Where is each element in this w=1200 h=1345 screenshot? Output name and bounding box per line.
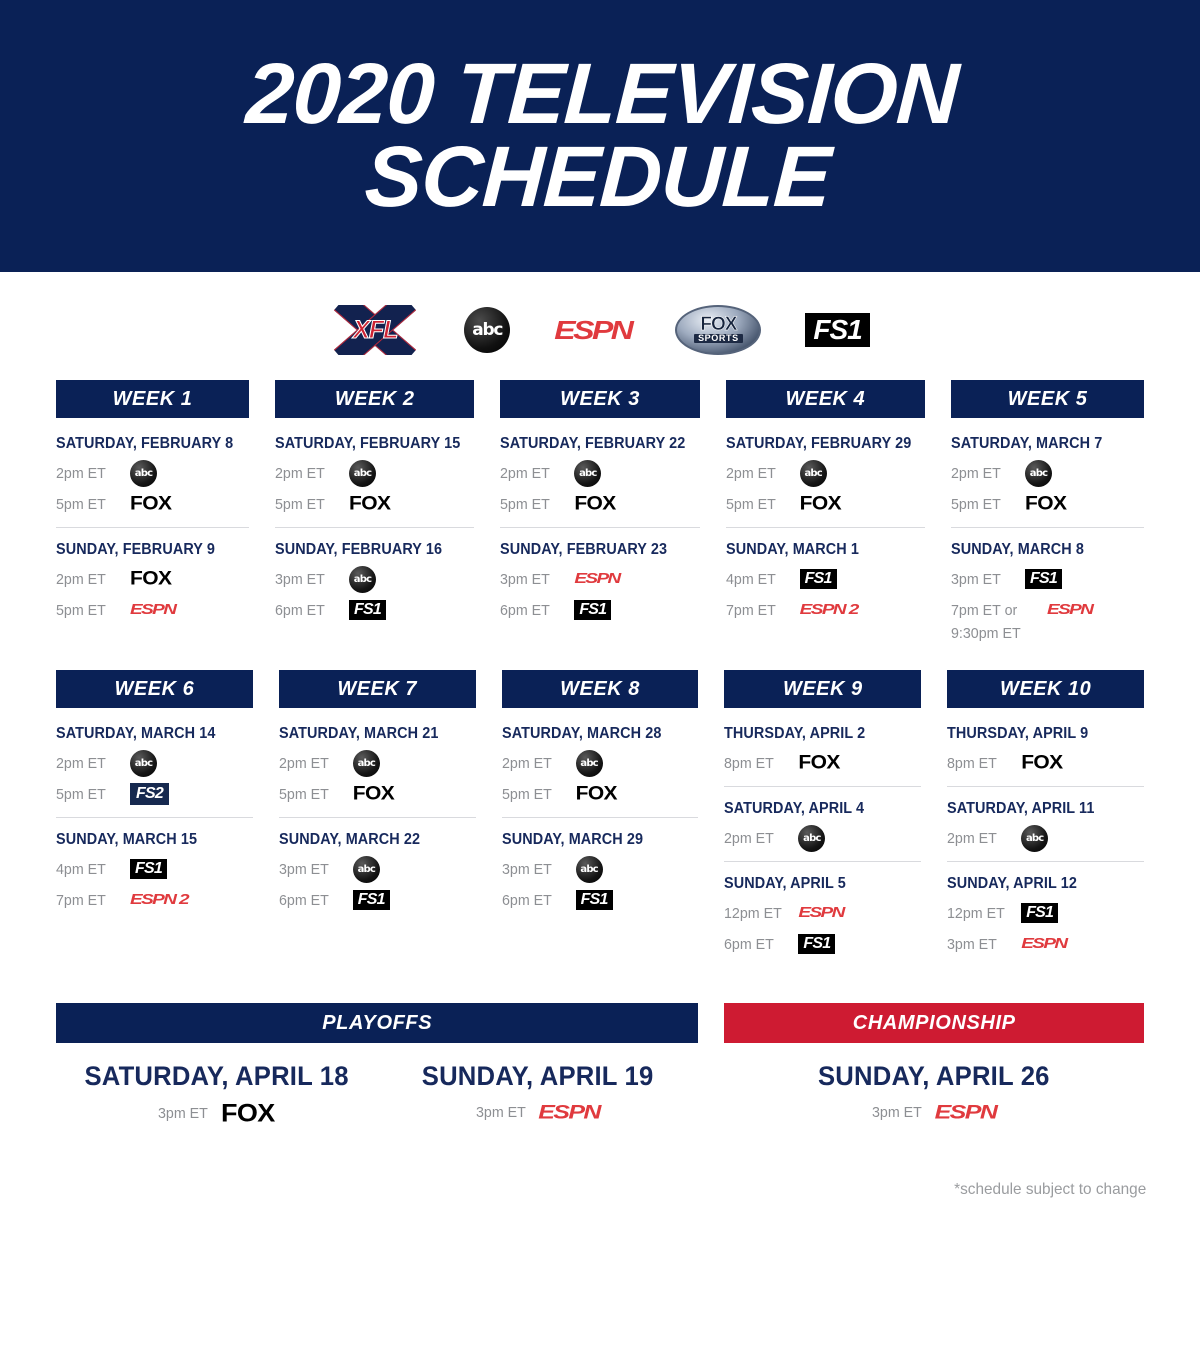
abc-icon-label: abc bbox=[358, 758, 375, 769]
broadcast-slot: 4pm ETFS1 bbox=[726, 565, 925, 593]
championship-header: CHAMPIONSHIP bbox=[724, 1003, 1144, 1043]
day-group: SUNDAY, MARCH 293pm ETabc6pm ETFS1 bbox=[502, 817, 699, 923]
slot-network: abc bbox=[353, 856, 380, 883]
abc-icon-label: abc bbox=[135, 758, 152, 769]
abc-icon-label: abc bbox=[354, 468, 371, 479]
abc-icon: abc bbox=[800, 460, 827, 487]
slot-time: 12pm ET bbox=[947, 905, 1017, 922]
abc-icon: abc bbox=[130, 460, 157, 487]
abc-icon-label: abc bbox=[803, 833, 820, 844]
page-header: 2020 TELEVISION SCHEDULE bbox=[0, 0, 1200, 272]
playoffs-header: PLAYOFFS bbox=[56, 1003, 698, 1043]
slot-time: 3pm ET bbox=[502, 861, 572, 878]
slot-time: 2pm ET bbox=[502, 755, 572, 772]
broadcast-slot: 3pm ETabc bbox=[279, 855, 476, 883]
week-title: WEEK 4 bbox=[786, 388, 866, 411]
slot-time: 5pm ET bbox=[56, 496, 126, 513]
postseason-game: SUNDAY, APRIL 193pm ETESPN bbox=[377, 1061, 698, 1129]
slot-time: 5pm ET bbox=[502, 786, 572, 803]
broadcast-slot: 5pm ETFOX bbox=[275, 490, 474, 518]
day-date-label: SUNDAY, APRIL 5 bbox=[724, 875, 907, 893]
abc-icon-label: abc bbox=[580, 864, 597, 875]
day-group: SUNDAY, MARCH 223pm ETabc6pm ETFS1 bbox=[279, 817, 476, 923]
xfl-logo-icon: XFL bbox=[330, 305, 420, 355]
weeks-row-first-half: WEEK 1SATURDAY, FEBRUARY 82pm ETabc5pm E… bbox=[56, 380, 1144, 648]
fox-icon: FOX bbox=[798, 752, 839, 775]
week-body: SATURDAY, MARCH 212pm ETabc5pm ETFOXSUND… bbox=[279, 708, 476, 923]
abc-icon-label: abc bbox=[135, 468, 152, 479]
slot-network: FS1 bbox=[576, 890, 613, 910]
slot-time: 3pm ET bbox=[476, 1104, 526, 1121]
broadcast-slot: 3pm ETabc bbox=[502, 855, 699, 883]
slot-time: 6pm ET bbox=[275, 602, 345, 619]
day-group: SATURDAY, FEBRUARY 152pm ETabc5pm ETFOX bbox=[275, 422, 474, 527]
day-date-label: SUNDAY, MARCH 1 bbox=[726, 541, 911, 559]
fs1-icon: FS1 bbox=[574, 600, 611, 620]
abc-icon: abc bbox=[353, 750, 380, 777]
day-date-label: SUNDAY, FEBRUARY 23 bbox=[500, 541, 685, 559]
slot-time: 5pm ET bbox=[275, 496, 345, 513]
abc-icon: abc bbox=[130, 750, 157, 777]
week-header: WEEK 8 bbox=[502, 670, 699, 708]
day-date-label: SATURDAY, MARCH 21 bbox=[279, 725, 462, 743]
slot-network: FS1 bbox=[1021, 903, 1058, 923]
slot-network: FS1 bbox=[130, 859, 167, 879]
fs1-icon: FS1 bbox=[130, 859, 167, 879]
abc-icon: abc bbox=[1021, 825, 1048, 852]
slot-time: 3pm ET bbox=[500, 571, 570, 588]
slot-time: 6pm ET bbox=[724, 936, 794, 953]
week-card: WEEK 10THURSDAY, APRIL 98pm ETFOXSATURDA… bbox=[947, 670, 1144, 967]
day-date-label: SUNDAY, APRIL 12 bbox=[947, 875, 1130, 893]
slot-time: 3pm ET bbox=[158, 1105, 208, 1122]
week-header: WEEK 2 bbox=[275, 380, 474, 418]
day-date-label: SATURDAY, APRIL 4 bbox=[724, 800, 907, 818]
slot-network: FS1 bbox=[574, 600, 611, 620]
week-card: WEEK 4SATURDAY, FEBRUARY 292pm ETabc5pm … bbox=[726, 380, 925, 648]
slot-network: ESPN 2 bbox=[130, 889, 188, 911]
slot-network: FOX bbox=[574, 492, 615, 516]
fs1-icon: FS1 bbox=[576, 890, 613, 910]
abc-icon: abc bbox=[1025, 460, 1052, 487]
week-card: WEEK 2SATURDAY, FEBRUARY 152pm ETabc5pm … bbox=[275, 380, 474, 648]
postseason-game: SUNDAY, APRIL 263pm ETESPN bbox=[724, 1061, 1144, 1127]
week-header: WEEK 10 bbox=[947, 670, 1144, 708]
postseason-date-label: SUNDAY, APRIL 19 bbox=[385, 1061, 690, 1092]
broadcast-slot: 2pm ETFOX bbox=[56, 565, 249, 593]
fox-icon: FOX bbox=[800, 493, 841, 516]
slot-time: 12pm ET bbox=[724, 905, 794, 922]
day-date-label: THURSDAY, APRIL 2 bbox=[724, 725, 907, 743]
slot-time: 8pm ET bbox=[947, 755, 1017, 772]
fox-sports-logo-icon: FOX SPORTS bbox=[675, 305, 761, 355]
slot-time: 5pm ET bbox=[56, 786, 126, 803]
broadcast-slot: 2pm ETabc bbox=[56, 459, 249, 487]
day-group: SUNDAY, APRIL 1212pm ETFS13pm ETESPN bbox=[947, 861, 1144, 967]
slot-time: 2pm ET bbox=[56, 465, 126, 482]
slot-time: 5pm ET bbox=[726, 496, 796, 513]
slot-time: 2pm ET bbox=[279, 755, 349, 772]
broadcast-slot: 7pm ETESPN 2 bbox=[726, 596, 925, 624]
espn-logo-icon: ESPN bbox=[554, 315, 631, 345]
week-body: SATURDAY, MARCH 72pm ETabc5pm ETFOXSUNDA… bbox=[951, 418, 1144, 648]
abc-logo-label: abc bbox=[472, 320, 502, 340]
abc-icon: abc bbox=[798, 825, 825, 852]
broadcast-slot: 7pm ET orESPN bbox=[951, 596, 1144, 624]
day-group: SUNDAY, FEBRUARY 163pm ETabc6pm ETFS1 bbox=[275, 527, 474, 633]
fox-icon: FOX bbox=[353, 783, 394, 806]
slot-time: 5pm ET bbox=[500, 496, 570, 513]
slot-network: FOX bbox=[576, 782, 617, 806]
page-title-line2: SCHEDULE bbox=[240, 136, 956, 219]
broadcast-slot: 4pm ETFS1 bbox=[56, 855, 253, 883]
broadcast-slot: 6pm ETFS1 bbox=[275, 596, 474, 624]
slot-network: ESPN bbox=[1047, 599, 1092, 621]
broadcast-slot: 8pm ETFOX bbox=[724, 749, 921, 777]
slot-network: abc bbox=[1021, 825, 1048, 852]
week-title: WEEK 10 bbox=[1000, 678, 1091, 701]
week-card: WEEK 7SATURDAY, MARCH 212pm ETabc5pm ETF… bbox=[279, 670, 476, 967]
day-group: SUNDAY, MARCH 14pm ETFS17pm ETESPN 2 bbox=[726, 527, 925, 633]
abc-icon-label: abc bbox=[804, 468, 821, 479]
fox-icon: FOX bbox=[576, 783, 617, 806]
broadcast-slot: 6pm ETFS1 bbox=[724, 930, 921, 958]
espn-icon: ESPN bbox=[1047, 601, 1092, 618]
slot-network: FS1 bbox=[353, 890, 390, 910]
day-group: SATURDAY, APRIL 42pm ETabc bbox=[724, 786, 921, 861]
day-date-label: THURSDAY, APRIL 9 bbox=[947, 725, 1130, 743]
week-body: SATURDAY, MARCH 142pm ETabc5pm ETFS2SUND… bbox=[56, 708, 253, 923]
week-body: SATURDAY, FEBRUARY 152pm ETabc5pm ETFOXS… bbox=[275, 418, 474, 633]
week-header: WEEK 1 bbox=[56, 380, 249, 418]
broadcast-slot: 5pm ETFOX bbox=[500, 490, 699, 518]
slot-network: abc bbox=[349, 460, 376, 487]
day-group: THURSDAY, APRIL 98pm ETFOX bbox=[947, 712, 1144, 786]
slot-network: abc bbox=[130, 750, 157, 777]
week-title: WEEK 5 bbox=[1008, 388, 1088, 411]
day-date-label: SUNDAY, MARCH 8 bbox=[951, 541, 1130, 559]
fox-icon: FOX bbox=[1025, 493, 1066, 516]
week-card: WEEK 3SATURDAY, FEBRUARY 222pm ETabc5pm … bbox=[500, 380, 699, 648]
slot-network: FOX bbox=[349, 492, 390, 516]
page-title: 2020 TELEVISION SCHEDULE bbox=[240, 53, 960, 220]
slot-network: FS1 bbox=[1025, 569, 1062, 589]
slot-time: 6pm ET bbox=[279, 892, 349, 909]
postseason-date-label: SUNDAY, APRIL 26 bbox=[735, 1061, 1134, 1092]
fox-sports-logo-sublabel: SPORTS bbox=[694, 334, 743, 343]
slot-network: abc bbox=[349, 566, 376, 593]
day-date-label: SUNDAY, MARCH 29 bbox=[502, 831, 685, 849]
weeks-row-second-half: WEEK 6SATURDAY, MARCH 142pm ETabc5pm ETF… bbox=[56, 670, 1144, 967]
slot-time: 3pm ET bbox=[951, 571, 1021, 588]
abc-icon-label: abc bbox=[354, 574, 371, 585]
broadcast-slot: 2pm ETabc bbox=[275, 459, 474, 487]
week-card: WEEK 6SATURDAY, MARCH 142pm ETabc5pm ETF… bbox=[56, 670, 253, 967]
broadcast-slot: 3pm ETESPN bbox=[500, 565, 699, 593]
slot-network: FS1 bbox=[798, 934, 835, 954]
slot-network: FS2 bbox=[130, 783, 169, 805]
slot-network: FOX bbox=[798, 751, 839, 775]
postseason-row: PLAYOFFS CHAMPIONSHIP SATURDAY, APRIL 18… bbox=[56, 1003, 1144, 1129]
week-title: WEEK 2 bbox=[335, 388, 415, 411]
broadcast-slot: 2pm ETabc bbox=[947, 824, 1144, 852]
abc-icon: abc bbox=[576, 750, 603, 777]
day-group: SUNDAY, FEBRUARY 92pm ETFOX5pm ETESPN bbox=[56, 527, 249, 633]
week-header: WEEK 3 bbox=[500, 380, 699, 418]
schedule-sheet: WEEK 1SATURDAY, FEBRUARY 82pm ETabc5pm E… bbox=[0, 380, 1200, 1129]
broadcast-slot: 6pm ETFS1 bbox=[502, 886, 699, 914]
postseason-date-label: SATURDAY, APRIL 18 bbox=[64, 1061, 369, 1092]
slot-network: ESPN bbox=[574, 568, 619, 590]
broadcast-slot: 8pm ETFOX bbox=[947, 749, 1144, 777]
day-group: SATURDAY, FEBRUARY 222pm ETabc5pm ETFOX bbox=[500, 422, 699, 527]
abc-icon-label: abc bbox=[358, 864, 375, 875]
abc-icon: abc bbox=[353, 856, 380, 883]
espn-icon: ESPN bbox=[538, 1101, 600, 1124]
slot-network: abc bbox=[798, 825, 825, 852]
slot-network: ESPN bbox=[130, 599, 175, 621]
slot-time: 2pm ET bbox=[56, 571, 126, 588]
broadcast-slot: 3pm ETabc bbox=[275, 565, 474, 593]
espn2-icon: ESPN 2 bbox=[800, 601, 858, 618]
fox-icon: FOX bbox=[130, 568, 171, 591]
fox-icon: FOX bbox=[1021, 752, 1062, 775]
day-group: SUNDAY, APRIL 512pm ETESPN6pm ETFS1 bbox=[724, 861, 921, 967]
slot-time: 3pm ET bbox=[947, 936, 1017, 953]
broadcast-slot: 2pm ETabc bbox=[724, 824, 921, 852]
broadcast-slot: 5pm ETESPN bbox=[56, 596, 249, 624]
slot-time: 5pm ET bbox=[951, 496, 1021, 513]
slot-network: ESPN bbox=[1021, 933, 1066, 955]
slot-network: FOX bbox=[1021, 751, 1062, 775]
espn2-icon: ESPN 2 bbox=[130, 891, 188, 908]
abc-logo-icon: abc bbox=[464, 307, 510, 353]
week-body: THURSDAY, APRIL 28pm ETFOXSATURDAY, APRI… bbox=[724, 708, 921, 967]
fs1-icon: FS1 bbox=[1025, 569, 1062, 589]
day-group: SATURDAY, APRIL 112pm ETabc bbox=[947, 786, 1144, 861]
week-card: WEEK 8SATURDAY, MARCH 282pm ETabc5pm ETF… bbox=[502, 670, 699, 967]
week-body: THURSDAY, APRIL 98pm ETFOXSATURDAY, APRI… bbox=[947, 708, 1144, 967]
fox-icon: FOX bbox=[349, 493, 390, 516]
slot-network: FOX bbox=[353, 782, 394, 806]
playoffs-title: PLAYOFFS bbox=[322, 1012, 432, 1035]
abc-icon: abc bbox=[574, 460, 601, 487]
week-card: WEEK 9THURSDAY, APRIL 28pm ETFOXSATURDAY… bbox=[724, 670, 921, 967]
fox-sports-logo-label: FOX bbox=[700, 317, 736, 333]
slot-time: 7pm ET bbox=[726, 602, 796, 619]
fs1-icon: FS1 bbox=[349, 600, 386, 620]
slot-network: abc bbox=[130, 460, 157, 487]
day-group: SATURDAY, FEBRUARY 292pm ETabc5pm ETFOX bbox=[726, 422, 925, 527]
slot-time: 2pm ET bbox=[947, 830, 1017, 847]
day-date-label: SUNDAY, FEBRUARY 16 bbox=[275, 541, 460, 559]
slot-time: 5pm ET bbox=[279, 786, 349, 803]
slot-network: abc bbox=[574, 460, 601, 487]
slot-time: 4pm ET bbox=[56, 861, 126, 878]
week-header: WEEK 6 bbox=[56, 670, 253, 708]
espn-icon: ESPN bbox=[935, 1101, 997, 1124]
slot-time: 2pm ET bbox=[724, 830, 794, 847]
slot-time: 6pm ET bbox=[500, 602, 570, 619]
week-card: WEEK 5SATURDAY, MARCH 72pm ETabc5pm ETFO… bbox=[951, 380, 1144, 648]
fox-icon: FOX bbox=[574, 493, 615, 516]
week-title: WEEK 1 bbox=[113, 388, 193, 411]
slot-time: 5pm ET bbox=[56, 602, 126, 619]
broadcast-slot: 2pm ETabc bbox=[726, 459, 925, 487]
broadcast-slot: 12pm ETFS1 bbox=[947, 899, 1144, 927]
slot-time: 3pm ET bbox=[275, 571, 345, 588]
week-card: WEEK 1SATURDAY, FEBRUARY 82pm ETabc5pm E… bbox=[56, 380, 249, 648]
slot-network: FOX bbox=[1025, 492, 1066, 516]
broadcast-slot: 6pm ETFS1 bbox=[500, 596, 699, 624]
day-date-label: SUNDAY, FEBRUARY 9 bbox=[56, 541, 235, 559]
slot-network: abc bbox=[353, 750, 380, 777]
espn-icon: ESPN bbox=[574, 570, 619, 587]
day-group: SUNDAY, MARCH 154pm ETFS17pm ETESPN 2 bbox=[56, 817, 253, 923]
day-date-label: SATURDAY, MARCH 7 bbox=[951, 435, 1130, 453]
slot-network: abc bbox=[576, 750, 603, 777]
broadcast-slot: 5pm ETFOX bbox=[951, 490, 1144, 518]
slot-network: ESPN 2 bbox=[800, 599, 858, 621]
broadcast-slot: 5pm ETFOX bbox=[279, 780, 476, 808]
slot-network: abc bbox=[1025, 460, 1052, 487]
slot-network: abc bbox=[800, 460, 827, 487]
broadcast-slot: 5pm ETFOX bbox=[56, 490, 249, 518]
slot-network: FS1 bbox=[349, 600, 386, 620]
week-title: WEEK 8 bbox=[560, 678, 640, 701]
day-group: SATURDAY, MARCH 142pm ETabc5pm ETFS2 bbox=[56, 712, 253, 817]
week-title: WEEK 3 bbox=[560, 388, 640, 411]
broadcast-slot: 12pm ETESPN bbox=[724, 899, 921, 927]
day-date-label: SUNDAY, MARCH 15 bbox=[56, 831, 239, 849]
fs2-icon: FS2 bbox=[130, 783, 169, 805]
abc-icon-label: abc bbox=[1026, 833, 1043, 844]
day-group: SATURDAY, MARCH 72pm ETabc5pm ETFOX bbox=[951, 422, 1144, 527]
slot-network: abc bbox=[576, 856, 603, 883]
slot-time: 7pm ET or bbox=[951, 602, 1042, 619]
slot-network: FOX bbox=[130, 492, 171, 516]
slot-time-alternate: 9:30pm ET bbox=[951, 625, 1134, 642]
day-date-label: SATURDAY, MARCH 28 bbox=[502, 725, 685, 743]
broadcast-slot: 3pm ETFS1 bbox=[951, 565, 1144, 593]
week-title: WEEK 9 bbox=[783, 678, 863, 701]
day-date-label: SATURDAY, MARCH 14 bbox=[56, 725, 239, 743]
broadcast-slot: 5pm ETFS2 bbox=[56, 780, 253, 808]
week-title: WEEK 7 bbox=[337, 678, 417, 701]
day-date-label: SATURDAY, APRIL 11 bbox=[947, 800, 1130, 818]
week-header: WEEK 4 bbox=[726, 380, 925, 418]
slot-time: 2pm ET bbox=[951, 465, 1021, 482]
fs1-icon: FS1 bbox=[800, 569, 837, 589]
xfl-logo-label: XFL bbox=[330, 305, 420, 355]
slot-time: 3pm ET bbox=[279, 861, 349, 878]
fs1-icon: FS1 bbox=[1021, 903, 1058, 923]
week-header: WEEK 9 bbox=[724, 670, 921, 708]
fs1-icon: FS1 bbox=[798, 934, 835, 954]
page-title-line1: 2020 TELEVISION bbox=[244, 46, 961, 142]
abc-icon: abc bbox=[576, 856, 603, 883]
day-date-label: SATURDAY, FEBRUARY 15 bbox=[275, 435, 460, 453]
broadcast-slot: 6pm ETFS1 bbox=[279, 886, 476, 914]
day-date-label: SATURDAY, FEBRUARY 22 bbox=[500, 435, 685, 453]
abc-icon: abc bbox=[349, 460, 376, 487]
slot-time: 8pm ET bbox=[724, 755, 794, 772]
abc-icon: abc bbox=[349, 566, 376, 593]
day-group: SUNDAY, MARCH 83pm ETFS17pm ET orESPN9:3… bbox=[951, 527, 1144, 648]
espn-icon: ESPN bbox=[798, 904, 843, 921]
network-logo-strip: XFL abc ESPN FOX SPORTS FS1 bbox=[0, 294, 1200, 366]
day-group: THURSDAY, APRIL 28pm ETFOX bbox=[724, 712, 921, 786]
postseason-slot: 3pm ETFOX bbox=[56, 1098, 377, 1129]
postseason-slot: 3pm ETESPN bbox=[377, 1098, 698, 1127]
abc-icon-label: abc bbox=[1030, 468, 1047, 479]
postseason-slot: 3pm ETESPN bbox=[724, 1098, 1144, 1127]
day-group: SATURDAY, MARCH 212pm ETabc5pm ETFOX bbox=[279, 712, 476, 817]
week-header: WEEK 5 bbox=[951, 380, 1144, 418]
week-body: SATURDAY, MARCH 282pm ETabc5pm ETFOXSUND… bbox=[502, 708, 699, 923]
day-group: SATURDAY, FEBRUARY 82pm ETabc5pm ETFOX bbox=[56, 422, 249, 527]
fox-icon: FOX bbox=[130, 493, 171, 516]
abc-icon-label: abc bbox=[579, 468, 596, 479]
championship-games: SUNDAY, APRIL 263pm ETESPN bbox=[724, 1061, 1144, 1129]
slot-time: 6pm ET bbox=[502, 892, 572, 909]
fs1-icon: FS1 bbox=[353, 890, 390, 910]
week-body: SATURDAY, FEBRUARY 292pm ETabc5pm ETFOXS… bbox=[726, 418, 925, 633]
slot-time: 7pm ET bbox=[56, 892, 126, 909]
broadcast-slot: 3pm ETESPN bbox=[947, 930, 1144, 958]
week-title: WEEK 6 bbox=[115, 678, 195, 701]
broadcast-slot: 2pm ETabc bbox=[56, 749, 253, 777]
slot-network: FOX bbox=[130, 567, 171, 591]
espn-icon: ESPN bbox=[1021, 935, 1066, 952]
slot-network: ESPN bbox=[798, 902, 843, 924]
day-group: SATURDAY, MARCH 282pm ETabc5pm ETFOX bbox=[502, 712, 699, 817]
day-group: SUNDAY, FEBRUARY 233pm ETESPN6pm ETFS1 bbox=[500, 527, 699, 633]
broadcast-slot: 5pm ETFOX bbox=[726, 490, 925, 518]
broadcast-slot: 2pm ETabc bbox=[279, 749, 476, 777]
slot-time: 2pm ET bbox=[275, 465, 345, 482]
broadcast-slot: 2pm ETabc bbox=[500, 459, 699, 487]
day-date-label: SUNDAY, MARCH 22 bbox=[279, 831, 462, 849]
slot-time: 2pm ET bbox=[726, 465, 796, 482]
fs1-logo-icon: FS1 bbox=[805, 313, 869, 346]
slot-time: 2pm ET bbox=[56, 755, 126, 772]
postseason-game: SATURDAY, APRIL 183pm ETFOX bbox=[56, 1061, 377, 1129]
week-header: WEEK 7 bbox=[279, 670, 476, 708]
broadcast-slot: 2pm ETabc bbox=[502, 749, 699, 777]
footnote: *schedule subject to change bbox=[48, 1181, 1200, 1199]
broadcast-slot: 7pm ETESPN 2 bbox=[56, 886, 253, 914]
broadcast-slot: 5pm ETFOX bbox=[502, 780, 699, 808]
abc-icon-label: abc bbox=[580, 758, 597, 769]
slot-time: 4pm ET bbox=[726, 571, 796, 588]
espn-icon: ESPN bbox=[130, 601, 175, 618]
slot-time: 3pm ET bbox=[872, 1104, 922, 1121]
day-date-label: SATURDAY, FEBRUARY 29 bbox=[726, 435, 911, 453]
playoffs-games: SATURDAY, APRIL 183pm ETFOXSUNDAY, APRIL… bbox=[56, 1061, 698, 1129]
week-body: SATURDAY, FEBRUARY 82pm ETabc5pm ETFOXSU… bbox=[56, 418, 249, 633]
slot-network: FOX bbox=[800, 492, 841, 516]
slot-network: FS1 bbox=[800, 569, 837, 589]
broadcast-slot: 2pm ETabc bbox=[951, 459, 1144, 487]
championship-title: CHAMPIONSHIP bbox=[853, 1012, 1016, 1035]
week-body: SATURDAY, FEBRUARY 222pm ETabc5pm ETFOXS… bbox=[500, 418, 699, 633]
day-date-label: SATURDAY, FEBRUARY 8 bbox=[56, 435, 235, 453]
slot-time: 2pm ET bbox=[500, 465, 570, 482]
fox-icon: FOX bbox=[221, 1099, 275, 1128]
